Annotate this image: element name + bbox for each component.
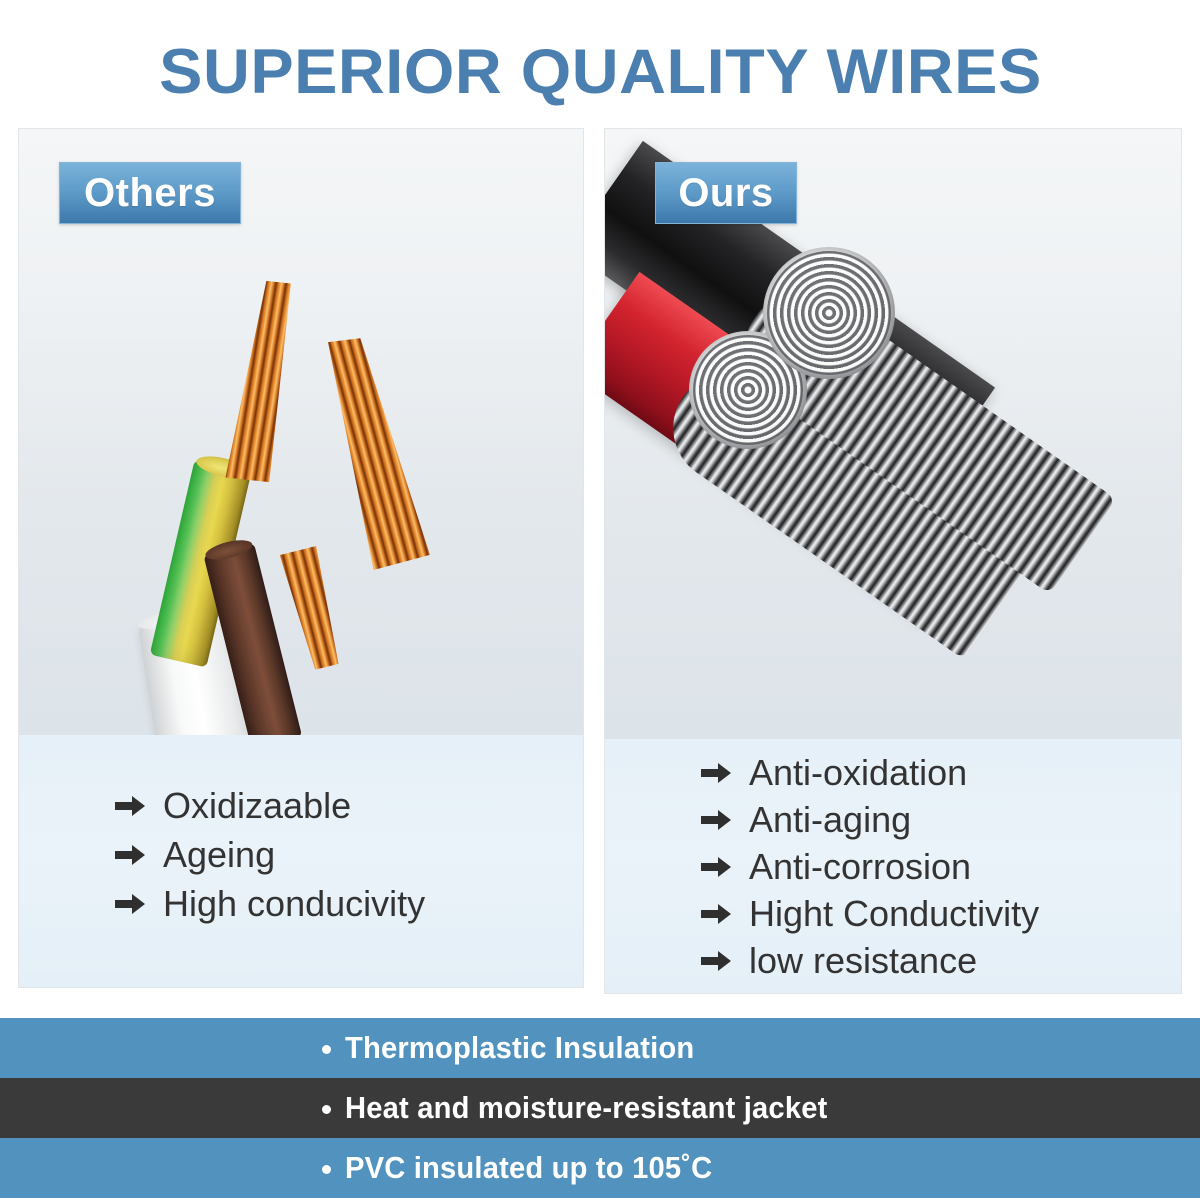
list-item: High conducivity	[115, 879, 583, 928]
arrow-right-icon	[701, 903, 731, 925]
others-feature-list: Oxidizaable Ageing	[19, 735, 583, 987]
list-item-label: Ageing	[163, 830, 275, 879]
bottom-feature-bars: Thermoplastic Insulation Heat and moistu…	[0, 1018, 1200, 1198]
arrow-right-icon	[701, 809, 731, 831]
infographic-page: SUPERIOR QUALITY WIRES Others	[0, 0, 1200, 1200]
list-item-label: Anti-aging	[749, 796, 911, 843]
list-item-label: Anti-corrosion	[749, 843, 971, 890]
list-item: Anti-corrosion	[701, 843, 1181, 890]
dot-icon	[322, 1045, 331, 1054]
list-item-label: Oxidizaable	[163, 781, 351, 830]
arrow-right-icon	[701, 856, 731, 878]
bottom-bar-1: Thermoplastic Insulation	[0, 1018, 1200, 1078]
list-item: Anti-oxidation	[701, 749, 1181, 796]
bottom-bar-3-label: PVC insulated up to 105˚C	[345, 1150, 712, 1186]
bottom-bar-1-label: Thermoplastic Insulation	[345, 1030, 694, 1066]
bottom-bar-2: Heat and moisture-resistant jacket	[0, 1078, 1200, 1138]
arrow-right-icon	[115, 795, 145, 817]
list-item-label: Anti-oxidation	[749, 749, 967, 796]
others-product-photo: Others	[19, 129, 583, 737]
badge-ours-label: Ours	[678, 171, 773, 216]
dot-icon	[322, 1165, 331, 1174]
list-item: Hight Conductivity	[701, 890, 1181, 937]
list-item: Ageing	[115, 830, 583, 879]
copper-strand-bundle-left	[225, 280, 300, 482]
badge-others-label: Others	[84, 171, 216, 216]
comparison-panel-ours: Ours Anti-oxidation	[604, 128, 1182, 994]
comparison-panels: Others Oxidizaable	[18, 128, 1182, 994]
page-title-bar: SUPERIOR QUALITY WIRES	[0, 36, 1200, 108]
arrow-right-icon	[701, 950, 731, 972]
list-item-label: low resistance	[749, 937, 977, 984]
badge-others: Others	[59, 162, 241, 224]
bottom-bar-2-label: Heat and moisture-resistant jacket	[345, 1090, 828, 1126]
comparison-panel-others: Others Oxidizaable	[18, 128, 584, 988]
arrow-right-icon	[701, 762, 731, 784]
arrow-right-icon	[115, 893, 145, 915]
list-item: Anti-aging	[701, 796, 1181, 843]
badge-ours: Ours	[655, 162, 797, 224]
list-item-label: High conducivity	[163, 879, 425, 928]
list-item: low resistance	[701, 937, 1181, 984]
copper-strand-bundle-right	[310, 331, 430, 571]
list-item: Oxidizaable	[115, 781, 583, 830]
arrow-right-icon	[115, 844, 145, 866]
copper-strand-bundle-lower	[273, 545, 349, 673]
page-title: SUPERIOR QUALITY WIRES	[159, 36, 1042, 108]
ours-product-photo: Ours	[605, 129, 1181, 741]
ours-feature-list: Anti-oxidation Anti-aging	[605, 739, 1181, 993]
bottom-bar-3: PVC insulated up to 105˚C	[0, 1138, 1200, 1198]
list-item-label: Hight Conductivity	[749, 890, 1039, 937]
dot-icon	[322, 1105, 331, 1114]
strand-cross-section-upper	[763, 247, 895, 379]
